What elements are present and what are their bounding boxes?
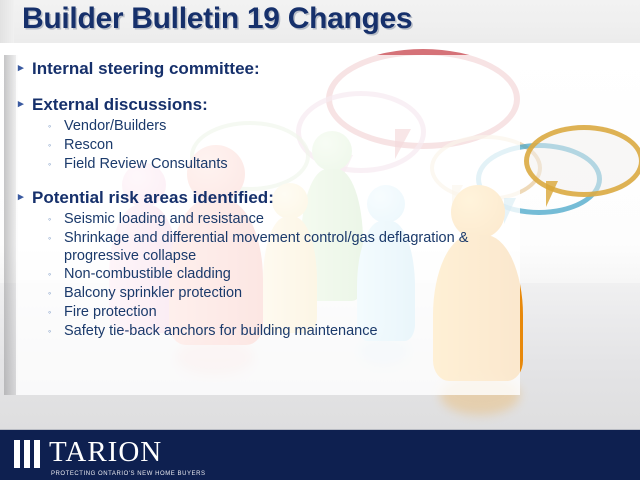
logo-bars-icon	[14, 440, 40, 468]
bullet-heading-label: External discussions:	[32, 94, 208, 115]
page-title: Builder Bulletin 19 Changes	[22, 2, 412, 36]
bullet-heading: ▸ External discussions:	[18, 94, 518, 115]
circle-bullet-icon: ◦	[48, 210, 64, 229]
list-item: ◦ Rescon	[18, 136, 518, 155]
list-item: ◦ Vendor/Builders	[18, 117, 518, 136]
list-item-label: Vendor/Builders	[64, 117, 518, 135]
list-item: ◦ Fire protection	[18, 303, 518, 322]
list-item: ◦ Seismic loading and resistance	[18, 210, 518, 229]
tarion-logo: TARION PROTECTING ONTARIO'S NEW HOME BUY…	[14, 438, 206, 479]
circle-bullet-icon: ◦	[48, 322, 64, 341]
circle-bullet-icon: ◦	[48, 136, 64, 155]
circle-bullet-icon: ◦	[48, 265, 64, 284]
bullet-heading-label: Potential risk areas identified:	[32, 187, 274, 208]
speech-bubble-gold	[524, 125, 640, 197]
list-item-label: Field Review Consultants	[64, 155, 518, 173]
triangle-bullet-icon: ▸	[18, 187, 32, 208]
list-item-label: Safety tie-back anchors for building mai…	[64, 322, 518, 340]
bullet-heading-label: Internal steering committee:	[32, 58, 260, 79]
triangle-bullet-icon: ▸	[18, 94, 32, 115]
slide: Builder Bulletin 19 Changes ▸ Internal s…	[0, 0, 640, 480]
brand-text: TARION PROTECTING ONTARIO'S NEW HOME BUY…	[49, 438, 206, 479]
block-spacer	[18, 81, 518, 94]
triangle-bullet-icon: ▸	[18, 58, 32, 79]
header-left-edge	[0, 0, 14, 43]
brand-name: TARION	[49, 438, 206, 467]
bullet-heading: ▸ Potential risk areas identified:	[18, 187, 518, 208]
list-item-label: Rescon	[64, 136, 518, 154]
list-item: ◦ Field Review Consultants	[18, 155, 518, 174]
circle-bullet-icon: ◦	[48, 229, 64, 248]
circle-bullet-icon: ◦	[48, 117, 64, 136]
list-item: ◦ Non-combustible cladding	[18, 265, 518, 284]
bullet-heading: ▸ Internal steering committee:	[18, 58, 518, 79]
list-item: ◦ Balcony sprinkler protection	[18, 284, 518, 303]
bullet-content: ▸ Internal steering committee: ▸ Externa…	[18, 58, 518, 341]
footer-bar: TARION PROTECTING ONTARIO'S NEW HOME BUY…	[0, 429, 640, 480]
list-item-label: Non-combustible cladding	[64, 265, 518, 283]
block-spacer	[18, 174, 518, 187]
list-item: ◦ Safety tie-back anchors for building m…	[18, 322, 518, 341]
circle-bullet-icon: ◦	[48, 284, 64, 303]
circle-bullet-icon: ◦	[48, 303, 64, 322]
speech-bubble-gold-tail	[546, 181, 558, 207]
list-item-label: Shrinkage and differential movement cont…	[64, 229, 518, 265]
list-item-label: Fire protection	[64, 303, 518, 321]
list-item: ◦ Shrinkage and differential movement co…	[18, 229, 518, 265]
list-item-label: Balcony sprinkler protection	[64, 284, 518, 302]
circle-bullet-icon: ◦	[48, 155, 64, 174]
brand-tagline: PROTECTING ONTARIO'S NEW HOME BUYERS	[51, 469, 206, 479]
list-item-label: Seismic loading and resistance	[64, 210, 518, 228]
